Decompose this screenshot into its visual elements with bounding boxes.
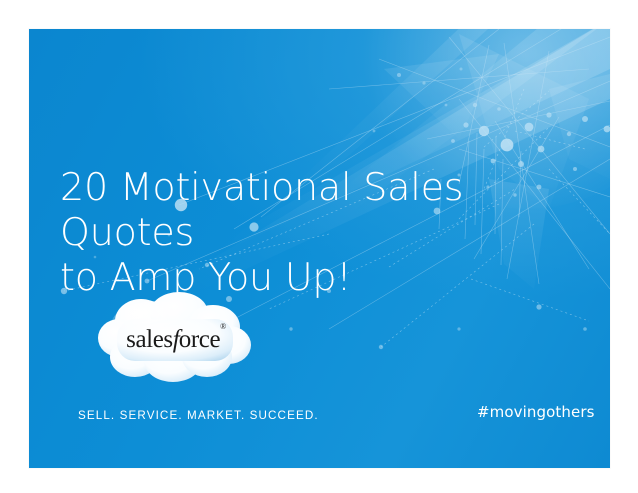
slide-title: 20 Motivational Sales Quotes to Amp You … <box>60 165 560 300</box>
brand-tagline: SELL. SERVICE. MARKET. SUCCEED. <box>78 408 319 422</box>
wordmark-suffix: orce <box>179 326 220 353</box>
salesforce-logo: salesforce® <box>95 291 253 383</box>
slide-canvas: 20 Motivational Sales Quotes to Amp You … <box>0 0 638 493</box>
salesforce-wordmark: salesforce® <box>95 291 253 383</box>
wordmark-prefix: sales <box>126 326 173 353</box>
campaign-hashtag: #movingothers <box>477 403 595 421</box>
wordmark-italic-f: f <box>173 326 179 353</box>
trademark-symbol: ® <box>220 322 226 331</box>
presentation-slide: 20 Motivational Sales Quotes to Amp You … <box>29 29 610 468</box>
